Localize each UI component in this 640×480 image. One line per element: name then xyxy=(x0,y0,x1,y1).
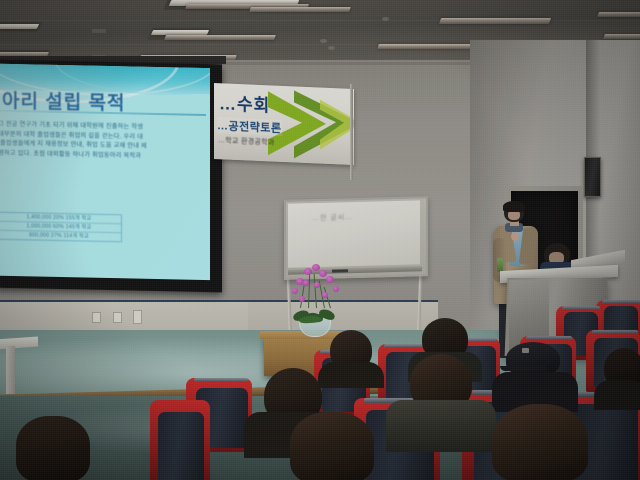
orchid-bloom xyxy=(303,280,309,286)
smoke-detector xyxy=(382,17,389,21)
leaf xyxy=(299,315,321,324)
audience-shoulders xyxy=(386,400,496,452)
audience-head xyxy=(16,416,90,480)
side-table-leg xyxy=(6,346,15,394)
audience-shoulders xyxy=(318,362,384,388)
banner-pole xyxy=(350,84,353,180)
orchid-bloom xyxy=(326,276,334,283)
ceiling-light xyxy=(249,7,351,12)
ceiling-light xyxy=(164,35,276,40)
wall-switch[interactable] xyxy=(133,310,142,324)
cap-logo-icon xyxy=(522,348,529,353)
audience-head xyxy=(290,412,374,480)
ceiling-light xyxy=(0,24,39,29)
wall-speaker xyxy=(584,157,601,197)
orchid-bloom xyxy=(312,264,320,271)
smoke-detector xyxy=(328,46,335,50)
lecture-hall-photo: …아리 설립 목적 …원래 그 전공 연구가 기초 되기 위해 대학원에 진출하… xyxy=(0,0,640,480)
audience-head xyxy=(492,404,588,480)
whiteboard-writing: …한 글씨… xyxy=(312,211,404,225)
ceiling-light xyxy=(597,12,640,17)
orchid-bloom xyxy=(292,288,298,294)
whiteboard-marker[interactable] xyxy=(332,269,348,272)
banner-line-3: …학교 환경공학과 xyxy=(218,135,275,147)
orchid-bloom xyxy=(314,282,320,288)
orchid-bloom xyxy=(322,292,328,298)
orchid-bloom xyxy=(299,296,305,302)
wall-banner: …수회 …공전략토론 …학교 환경공학과 xyxy=(214,83,354,165)
presenter-hair xyxy=(503,201,525,212)
projection-screen: …아리 설립 목적 …원래 그 전공 연구가 기초 되기 위해 대학원에 진출하… xyxy=(0,60,222,293)
ceiling-vent xyxy=(92,29,106,33)
slide-table-row: 600,000 27% 114개 학교 xyxy=(0,231,121,242)
orchid-bloom xyxy=(304,268,312,275)
slide-body-text: …원래 그 전공 연구가 기초 되기 위해 대학원에 진출하는 학생 …고는 대… xyxy=(0,119,210,162)
water-bottle[interactable] xyxy=(497,258,503,272)
orchid-bloom xyxy=(333,286,339,292)
wall-outlet[interactable] xyxy=(113,312,122,323)
orchid-bloom xyxy=(319,270,327,277)
ceiling-light xyxy=(603,34,640,39)
slide-table: 1,400,000 20% 155개 학교 1,000,000 60% 145개… xyxy=(0,212,122,243)
ceiling-light xyxy=(439,18,551,24)
cap-brim xyxy=(500,366,546,371)
banner-line-2: …공전략토론 xyxy=(217,117,282,136)
smoke-detector xyxy=(320,39,327,43)
presentation-slide: …아리 설립 목적 …원래 그 전공 연구가 기초 되기 위해 대학원에 진출하… xyxy=(0,64,210,281)
banner-line-1: …수회 xyxy=(219,89,270,116)
audience-shoulders xyxy=(594,380,640,410)
presenter-hand xyxy=(511,232,519,241)
ceiling-light xyxy=(377,44,479,49)
whiteboard-surface: …한 글씨… xyxy=(288,200,420,267)
wall-outlet[interactable] xyxy=(92,312,101,323)
